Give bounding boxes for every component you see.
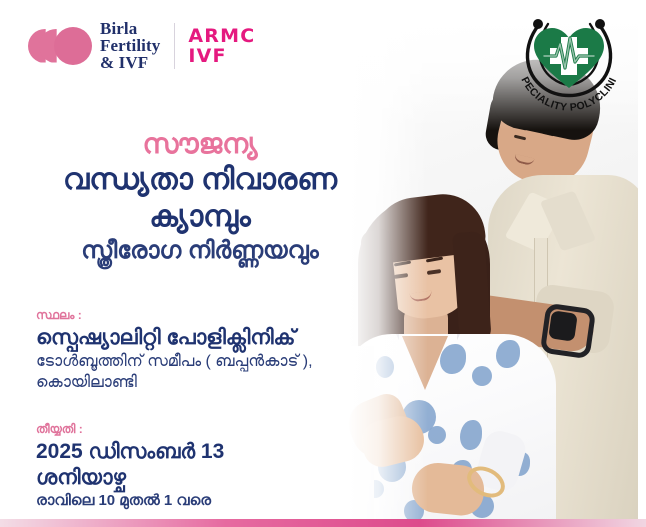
armc-line-2: IVF xyxy=(188,46,255,66)
logo-divider xyxy=(174,23,175,69)
stethoscope-earpiece-right xyxy=(595,19,605,29)
brand-name-line-2: Fertility xyxy=(100,37,160,54)
kurta-floral-motif xyxy=(428,426,446,444)
date-label: തീയ്യതി : xyxy=(36,422,386,437)
speciality-polyclinic-logo-icon: SPECIALITY POLYCLINIC xyxy=(510,10,628,114)
birla-fertility-wordmark: Birla Fertility & IVF xyxy=(100,20,160,71)
man-watch xyxy=(548,310,578,341)
event-day: ശനിയാഴ്ച xyxy=(36,465,386,491)
kurta-floral-motif xyxy=(496,340,520,368)
venue-name: സ്പെഷ്യാലിറ്റി പോളിക്ലിനിക് xyxy=(36,325,386,351)
stethoscope-earpiece-left xyxy=(533,19,543,29)
headline-block: സൗജന്യ വന്ധ്യതാ നിവാരണ ക്യാമ്പും സ്ത്രീര… xyxy=(0,128,400,266)
date-block: തീയ്യതി : 2025 ഡിസംബർ 13 ശനിയാഴ്ച രാവിലെ… xyxy=(36,422,386,511)
event-time: രാവിലെ 10 മുതൽ 1 വരെ xyxy=(36,491,386,511)
birla-fertility-mark-icon xyxy=(28,24,90,68)
armc-line-1: ARMC xyxy=(188,26,255,46)
poster-canvas: Birla Fertility & IVF ARMC IVF സൗജന്യ വന… xyxy=(0,0,646,527)
logo-row: Birla Fertility & IVF ARMC IVF xyxy=(28,20,255,71)
venue-address-line-2: കൊയിലാണ്ടി xyxy=(36,372,386,393)
brand-name-line-1: Birla xyxy=(100,20,160,37)
armc-ivf-wordmark: ARMC IVF xyxy=(188,26,255,66)
event-date: 2025 ഡിസംബർ 13 xyxy=(36,439,386,465)
circle-shape xyxy=(54,27,92,65)
headline-line-3: സ്ത്രീരോഗ നിർണ്ണയവും xyxy=(0,236,400,266)
right-edge-strip xyxy=(638,0,646,519)
free-label: സൗജന്യ xyxy=(0,128,400,160)
headline-line-2: ക്യാമ്പും xyxy=(0,199,400,234)
content-column: Birla Fertility & IVF ARMC IVF സൗജന്യ വന… xyxy=(0,0,400,519)
venue-address-line-1: ടോൾബൂത്തിന് സമീപം ( ബപ്പൻകാട് ), xyxy=(36,351,386,372)
brand-name-line-3: & IVF xyxy=(100,54,160,71)
venue-label: സ്ഥലം : xyxy=(36,308,386,323)
headline-line-1: വന്ധ്യതാ നിവാരണ xyxy=(0,162,400,197)
kurta-floral-motif xyxy=(472,366,492,386)
bottom-accent-bar xyxy=(0,519,646,527)
venue-block: സ്ഥലം : സ്പെഷ്യാലിറ്റി പോളിക്ലിനിക് ടോൾബ… xyxy=(36,308,386,393)
kurta-floral-motif xyxy=(460,420,482,450)
